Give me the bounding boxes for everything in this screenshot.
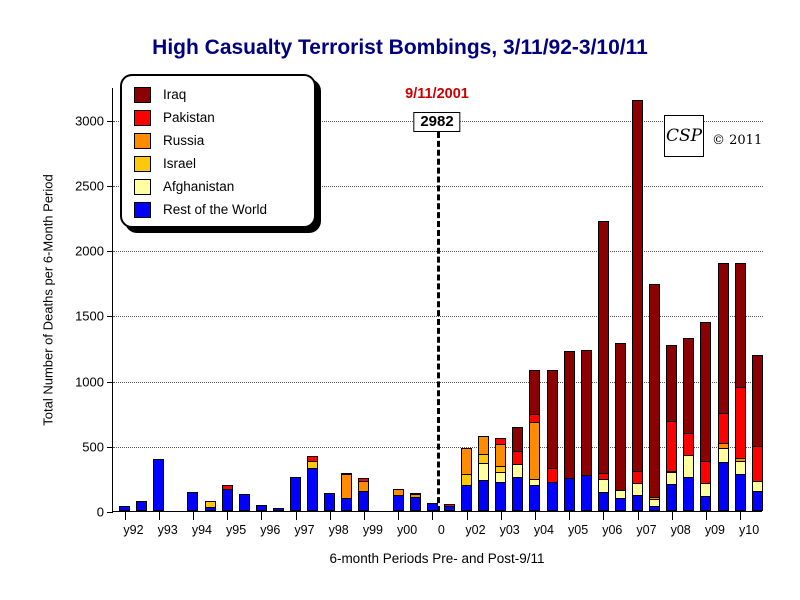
x-axis-tick	[638, 512, 639, 520]
nine-eleven-death-count-box: 2982	[413, 112, 460, 132]
bar-segment-afghanistan	[683, 455, 694, 478]
legend-item-israel[interactable]: Israel	[134, 152, 314, 175]
bar-segment-iraq	[598, 221, 609, 474]
bar-y06b[interactable]	[615, 343, 626, 511]
legend-item-label: Rest of the World	[163, 202, 267, 217]
legend-swatch-icon	[134, 202, 151, 218]
bar-y09b[interactable]	[718, 263, 729, 511]
x-axis-tick	[432, 512, 433, 520]
bar-y95b[interactable]	[239, 494, 250, 511]
x-axis-tick	[535, 512, 536, 520]
bar-segment-afghanistan	[512, 464, 523, 478]
bar-segment-rest-of-the-world	[239, 494, 250, 511]
x-axis-tick	[261, 512, 262, 520]
legend-item-label: Russia	[163, 133, 204, 148]
legend-item-russia[interactable]: Russia	[134, 129, 314, 152]
bar-y96a[interactable]	[256, 505, 267, 511]
bar-segment-pakistan	[547, 468, 558, 484]
x-axis-tick-label: y97	[294, 523, 314, 537]
bar-segment-pakistan	[700, 461, 711, 484]
bar-segment-iraq	[752, 355, 763, 447]
bar-segment-pakistan	[512, 451, 523, 465]
y-axis-tick	[107, 121, 113, 122]
bar-y05a[interactable]	[564, 351, 575, 511]
legend-swatch-icon	[134, 156, 151, 172]
y-axis-tick	[107, 447, 113, 448]
y-axis-tick	[107, 251, 113, 252]
bar-segment-russia	[478, 436, 489, 454]
bar-segment-rest-of-the-world	[307, 468, 318, 511]
bar-y02a[interactable]	[461, 448, 472, 511]
bar-segment-rest-of-the-world	[290, 477, 301, 511]
bar-segment-rest-of-the-world	[615, 498, 626, 511]
x-axis-tick	[296, 512, 297, 520]
bar-y10b[interactable]	[752, 355, 763, 511]
legend-item-afghanistan[interactable]: Afghanistan	[134, 175, 314, 198]
bar-segment-iraq	[547, 370, 558, 468]
x-axis-tick	[227, 512, 228, 520]
bar-y92b[interactable]	[136, 501, 147, 511]
bar-segment-rest-of-the-world	[393, 495, 404, 511]
bar-y07b[interactable]	[649, 284, 660, 511]
bar-segment-afghanistan	[598, 479, 609, 493]
bar-segment-rest-of-the-world	[700, 496, 711, 511]
bar-segment-iraq	[649, 284, 660, 498]
bar-y98a[interactable]	[324, 493, 335, 511]
x-axis-tick	[501, 512, 502, 520]
y-axis-tick	[107, 382, 113, 383]
bar-segment-rest-of-the-world	[752, 491, 763, 511]
bar-segment-rest-of-the-world	[683, 477, 694, 511]
bar-segment-russia	[341, 474, 352, 499]
bar-segment-rest-of-the-world	[581, 475, 592, 511]
bar-segment-rest-of-the-world	[512, 477, 523, 511]
bar-segment-rest-of-the-world	[222, 489, 233, 511]
bar-y07a[interactable]	[632, 100, 643, 511]
bar-y00a[interactable]	[393, 489, 404, 511]
x-axis-tick	[467, 512, 468, 520]
bar-y92a[interactable]	[119, 506, 130, 511]
bar-segment-pakistan	[752, 446, 763, 483]
y-axis-tick-label: 500	[82, 439, 104, 454]
bar-segment-rest-of-the-world	[632, 495, 643, 511]
legend-item-label: Pakistan	[163, 110, 215, 125]
y-axis-tick-label: 1500	[75, 309, 104, 324]
legend-item-pakistan[interactable]: Pakistan	[134, 106, 314, 129]
bar-y08a[interactable]	[666, 345, 677, 511]
bar-segment-rest-of-the-world	[495, 482, 506, 511]
bar-segment-iraq	[632, 100, 643, 471]
bar-segment-rest-of-the-world	[666, 484, 677, 511]
bar-segment-iraq	[581, 350, 592, 477]
bar-y99a[interactable]	[358, 478, 369, 511]
x-axis-tick-label: y07	[636, 523, 656, 537]
x-axis-tick	[398, 512, 399, 520]
x-axis-tick	[569, 512, 570, 520]
bar-y09a[interactable]	[700, 322, 711, 511]
bar-segment-rest-of-the-world	[187, 492, 198, 511]
x-axis-tick	[125, 512, 126, 520]
bar-segment-rest-of-the-world	[358, 491, 369, 511]
copyright-label: © 2011	[712, 133, 762, 148]
x-axis-tick	[603, 512, 604, 520]
bar-y94b[interactable]	[205, 501, 216, 511]
y-axis-tick-label: 2500	[75, 178, 104, 193]
bar-segment-iraq	[615, 343, 626, 490]
x-axis-tick-label: y10	[739, 523, 759, 537]
bar-segment-rest-of-the-world	[119, 506, 130, 511]
x-axis-tick-label: y93	[158, 523, 178, 537]
y-axis-tick	[107, 512, 113, 513]
bar-segment-russia	[529, 422, 540, 481]
bar-y03a[interactable]	[495, 438, 506, 511]
bar-y10a[interactable]	[735, 263, 746, 511]
bar-segment-rest-of-the-world	[649, 506, 660, 511]
bar-segment-rest-of-the-world	[410, 497, 421, 511]
x-axis-tick	[740, 512, 741, 520]
bar-segment-rest-of-the-world	[564, 478, 575, 511]
bar-segment-rest-of-the-world	[444, 506, 455, 511]
y-axis-tick-label: 3000	[75, 113, 104, 128]
bar-y93a[interactable]	[153, 459, 164, 511]
bar-y03b[interactable]	[512, 427, 523, 511]
chart-root: High Casualty Terrorist Bombings, 3/11/9…	[0, 0, 800, 600]
bar-y06a[interactable]	[598, 221, 609, 511]
x-axis-tick-label: y99	[363, 523, 383, 537]
x-axis-tick	[364, 512, 365, 520]
bar-segment-rest-of-the-world	[461, 485, 472, 511]
legend-swatch-icon	[134, 179, 151, 195]
x-axis-tick-label: y04	[534, 523, 554, 537]
bar-segment-afghanistan	[735, 461, 746, 475]
legend-item-iraq[interactable]: Iraq	[134, 83, 314, 106]
x-axis-tick	[159, 512, 160, 520]
bar-y97b[interactable]	[307, 456, 318, 511]
x-axis-tick-label: y06	[602, 523, 622, 537]
x-axis-tick	[672, 512, 673, 520]
bar-segment-afghanistan	[700, 483, 711, 497]
bar-segment-iraq	[718, 263, 729, 414]
chart-title: High Casualty Terrorist Bombings, 3/11/9…	[0, 36, 800, 60]
nine-eleven-divider-line	[437, 132, 440, 512]
x-axis-tick	[330, 512, 331, 520]
bar-y97a[interactable]	[290, 477, 301, 511]
bar-y95a[interactable]	[222, 485, 233, 511]
legend-item-label: Afghanistan	[163, 179, 234, 194]
bar-segment-iraq	[512, 427, 523, 452]
bar-y05b[interactable]	[581, 350, 592, 511]
bar-segment-rest-of-the-world	[547, 482, 558, 511]
x-axis-tick-label: 0	[438, 523, 445, 537]
nine-eleven-date-label: 9/11/2001	[405, 86, 469, 102]
bar-y02b[interactable]	[478, 436, 489, 511]
legend-swatch-icon	[134, 133, 151, 149]
bar-segment-rest-of-the-world	[478, 480, 489, 511]
bar-y01b[interactable]	[444, 504, 455, 511]
y-axis-tick-label: 1000	[75, 374, 104, 389]
x-axis-tick-label: y03	[500, 523, 520, 537]
y-axis-tick	[107, 186, 113, 187]
bar-y04b[interactable]	[547, 370, 558, 511]
csp-logo-text: CSP	[666, 126, 702, 146]
x-axis-tick-label: y94	[192, 523, 212, 537]
y-axis-tick-label: 0	[97, 505, 104, 520]
bar-segment-iraq	[700, 322, 711, 462]
bar-segment-rest-of-the-world	[256, 505, 267, 511]
y-axis-tick	[107, 316, 113, 317]
bar-segment-rest-of-the-world	[324, 493, 335, 511]
legend-item-rest-of-the-world[interactable]: Rest of the World	[134, 198, 314, 221]
bar-segment-pakistan	[735, 387, 746, 458]
bar-y08b[interactable]	[683, 338, 694, 511]
x-axis-tick-label: y02	[465, 523, 485, 537]
legend-swatch-icon	[134, 110, 151, 126]
csp-logo-icon: CSP	[664, 115, 704, 157]
x-axis-tick-label: y92	[123, 523, 143, 537]
x-axis-tick-label: y00	[397, 523, 417, 537]
bar-segment-rest-of-the-world	[598, 492, 609, 511]
bar-segment-pakistan	[683, 433, 694, 456]
bar-y96b[interactable]	[273, 508, 284, 511]
bar-y98b[interactable]	[341, 473, 352, 511]
bar-segment-afghanistan	[718, 448, 729, 463]
bar-segment-pakistan	[666, 421, 677, 472]
legend-item-label: Israel	[163, 156, 196, 171]
x-axis-tick-label: y08	[671, 523, 691, 537]
x-axis-title: 6-month Periods Pre- and Post-9/11	[112, 551, 762, 566]
bar-segment-rest-of-the-world	[205, 507, 216, 511]
legend-item-label: Iraq	[163, 87, 186, 102]
x-axis-tick	[193, 512, 194, 520]
bar-segment-rest-of-the-world	[341, 498, 352, 511]
chart-legend: IraqPakistanRussiaIsraelAfghanistanRest …	[120, 74, 316, 228]
bar-segment-rest-of-the-world	[735, 474, 746, 511]
x-axis-tick-label: y05	[568, 523, 588, 537]
bar-y04a[interactable]	[529, 370, 540, 511]
bar-segment-iraq	[564, 351, 575, 480]
y-axis-title: Total Number of Deaths per 6-Month Perio…	[41, 174, 56, 425]
bar-segment-iraq	[735, 263, 746, 388]
bar-segment-pakistan	[632, 471, 643, 485]
bar-segment-rest-of-the-world	[718, 462, 729, 511]
x-axis-tick-label: y95	[226, 523, 246, 537]
bar-segment-rest-of-the-world	[153, 459, 164, 511]
legend-swatch-icon	[134, 87, 151, 103]
x-axis-tick	[706, 512, 707, 520]
bar-segment-iraq	[666, 345, 677, 421]
bar-segment-pakistan	[718, 413, 729, 444]
x-axis-tick-label: y09	[705, 523, 725, 537]
bar-segment-rest-of-the-world	[529, 485, 540, 511]
bar-segment-russia	[461, 448, 472, 475]
bar-y00b[interactable]	[410, 493, 421, 511]
bar-segment-rest-of-the-world	[273, 508, 284, 511]
x-axis-tick-label: y98	[329, 523, 349, 537]
y-axis-tick-label: 2000	[75, 244, 104, 259]
bar-segment-iraq	[529, 370, 540, 414]
x-axis-tick-label: y96	[260, 523, 280, 537]
bar-y94a[interactable]	[187, 492, 198, 511]
bar-segment-rest-of-the-world	[136, 501, 147, 511]
bar-segment-iraq	[683, 338, 694, 435]
bar-segment-afghanistan	[478, 463, 489, 481]
bar-segment-russia	[495, 444, 506, 467]
